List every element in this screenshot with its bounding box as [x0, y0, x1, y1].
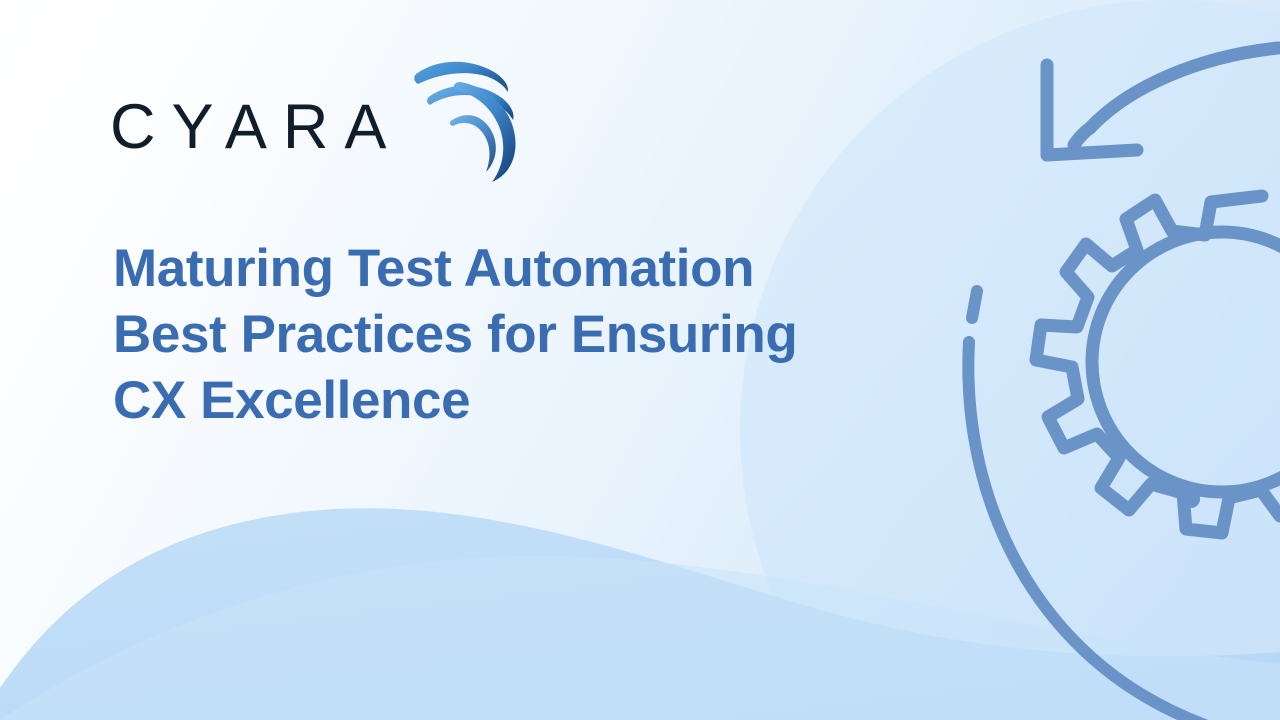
gear-outline-icon [1036, 196, 1280, 533]
cyara-swoosh-icon [408, 54, 528, 184]
gear-inner-circle [1092, 232, 1280, 492]
dashed-arc-icon [968, 342, 1280, 720]
page-title-line-3: CX Excellence [113, 368, 933, 434]
page-title-line-1: Maturing Test Automation [113, 236, 933, 302]
cyara-logo: CYARA [108, 58, 528, 188]
bottom-wave-highlight [0, 556, 1280, 720]
curved-arrow-head-icon [1047, 65, 1137, 155]
title-slide: CYARA [0, 0, 1280, 720]
curved-arrow-arc-tail [1074, 128, 1090, 145]
gear-dot-accent [1182, 490, 1200, 508]
dashed-arc-tick [972, 291, 977, 318]
page-title: Maturing Test Automation Best Practices … [113, 236, 933, 434]
bottom-wave-shape [0, 508, 1280, 720]
cyara-wordmark: CYARA [110, 96, 402, 159]
page-title-line-2: Best Practices for Ensuring [113, 302, 933, 368]
curved-arrow-arc [1090, 48, 1278, 128]
